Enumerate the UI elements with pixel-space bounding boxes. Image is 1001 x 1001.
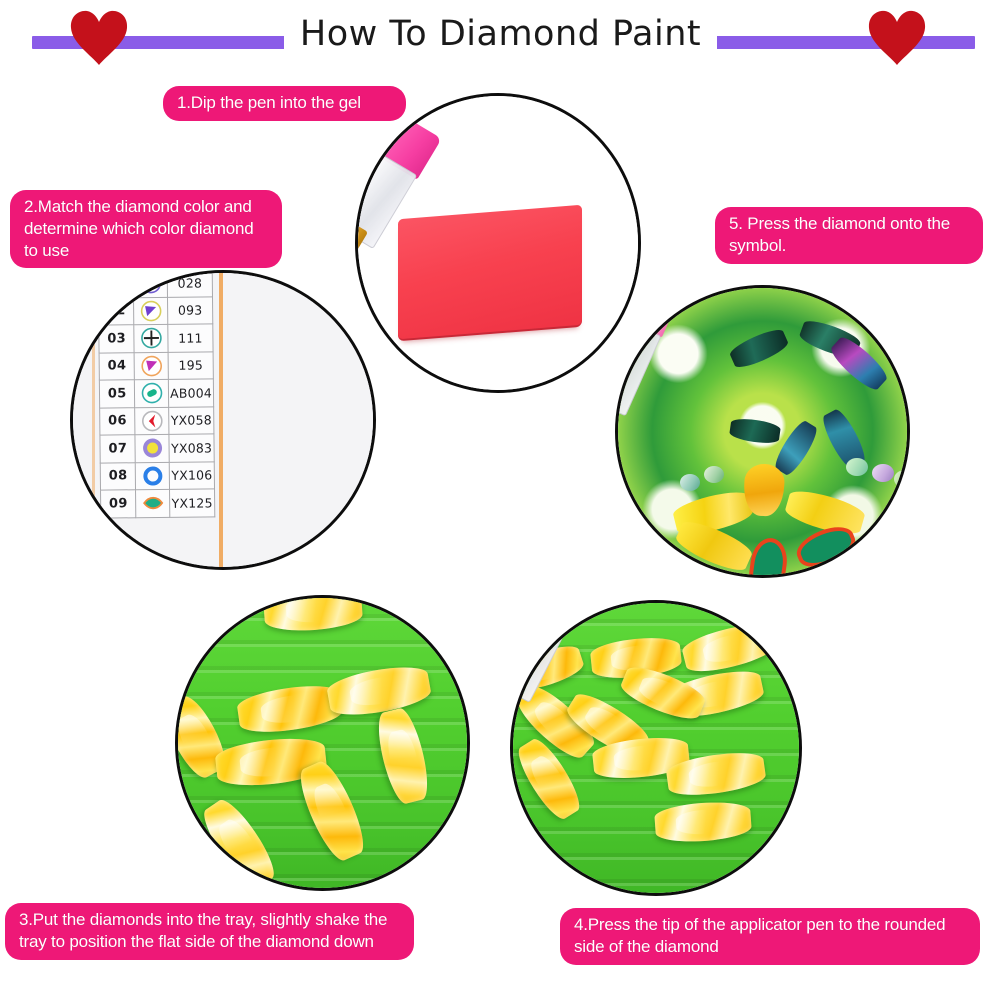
how-to-diamond-paint-infographic: How To Diamond Paint 01 [0, 0, 1001, 1001]
table-row: 03 111 [99, 324, 213, 353]
legend-symbol-cell [135, 352, 169, 380]
legend-code: YX125 [170, 489, 215, 517]
leaf-icon [142, 492, 164, 514]
legend-number: 08 [100, 462, 136, 490]
gem-round [846, 458, 868, 476]
table-row: 04 195 [99, 351, 213, 380]
ring-icon [141, 465, 163, 487]
legend-number: 07 [100, 435, 136, 463]
photo-color-chart: 01 028 02 [70, 270, 376, 570]
table-row: 06 YX058 [100, 406, 214, 435]
page-header: How To Diamond Paint [0, 0, 1001, 76]
legend-symbol-cell [136, 489, 170, 517]
double-dot-icon [139, 272, 161, 294]
photo-diamond-tray [175, 595, 470, 891]
legend-code: 028 [167, 270, 212, 297]
legend-code: 111 [168, 324, 213, 352]
legend-number: 04 [99, 352, 135, 380]
legend-symbol-cell [135, 407, 169, 435]
legend-number: 02 [98, 297, 134, 325]
legend-number: 01 [98, 270, 134, 298]
color-legend-table: 01 028 02 [98, 270, 216, 518]
photo-content: 01 028 02 [73, 273, 373, 567]
photo-content [358, 96, 638, 390]
legend-number: 09 [101, 490, 137, 518]
legend-code: YX106 [169, 461, 214, 489]
legend-symbol-cell [136, 462, 170, 490]
legend-number: 06 [100, 407, 136, 435]
triangle-icon [140, 355, 162, 377]
legend-code: YX058 [169, 406, 214, 434]
step-4-label: 4.Press the tip of the applicator pen to… [560, 908, 980, 965]
page-title-text: How To Diamond Paint [284, 14, 717, 54]
gel-pad [398, 205, 582, 339]
legend-symbol-cell [134, 324, 168, 352]
gem-round [894, 470, 910, 488]
triangle-icon [140, 300, 162, 322]
legend-number: 05 [99, 380, 135, 408]
photo-content [618, 288, 907, 575]
step-1-label: 1.Dip the pen into the gel [163, 86, 406, 121]
table-row: 08 YX106 [100, 461, 214, 490]
table-row: 02 093 [98, 296, 212, 325]
legend-symbol-cell [135, 434, 169, 462]
table-row: 05 AB004 [99, 379, 213, 408]
photo-pen-tip-on-diamond [510, 600, 802, 896]
legend-code: 195 [168, 351, 213, 379]
table-row: 09 YX125 [101, 489, 215, 518]
photo-dip-pen-into-gel [355, 93, 641, 393]
plus-icon [140, 327, 162, 349]
filled-circle-icon [141, 437, 163, 459]
step-5-label: 5. Press the diamond onto the symbol. [715, 207, 983, 264]
photo-content [513, 603, 799, 893]
gem-round [872, 464, 894, 482]
chevron-left-icon [141, 410, 163, 432]
capsule-icon [141, 382, 163, 404]
step-3-label: 3.Put the diamonds into the tray, slight… [5, 903, 414, 960]
legend-symbol-cell [135, 379, 169, 407]
color-legend-body: 01 028 02 [98, 270, 215, 518]
gem-round [704, 466, 724, 483]
pen-tip-icon [615, 405, 617, 458]
page-title: How To Diamond Paint [0, 14, 1001, 54]
legend-code: AB004 [168, 379, 213, 407]
photo-press-diamond-onto-symbol [615, 285, 910, 578]
legend-code: 093 [168, 296, 213, 324]
step-2-label: 2.Match the diamond color and determine … [10, 190, 282, 268]
legend-number: 03 [99, 325, 135, 353]
legend-symbol-cell [134, 297, 168, 325]
gem-round [680, 474, 700, 491]
photo-content [178, 598, 467, 888]
legend-symbol-cell [134, 270, 168, 297]
table-row: 01 028 [98, 270, 212, 298]
legend-code: YX083 [169, 434, 214, 462]
table-row: 07 YX083 [100, 434, 214, 463]
